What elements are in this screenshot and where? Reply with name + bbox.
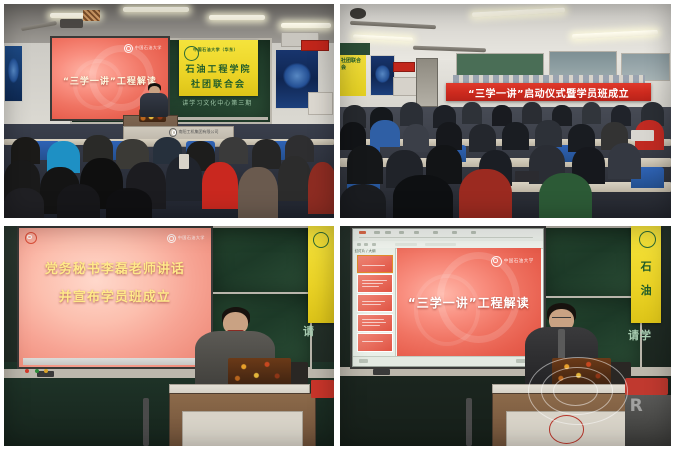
ribbon-icon[interactable]: [414, 231, 420, 234]
ribbon-icon[interactable]: [359, 231, 367, 234]
photo-collage: 中国石油大学 “三学一讲”工程解读 中国石油大学（华东） 石油工程学院 社团联合…: [0, 0, 675, 450]
projection-screen: 中国石油大学 党务秘书李磊老师讲话 并宣布学员班成立: [17, 226, 212, 369]
status-bar: [353, 356, 543, 365]
university-logo: 中国石油大学: [124, 44, 162, 53]
red-object: [625, 378, 668, 396]
microphone: [558, 329, 565, 360]
wall-poster: [4, 45, 23, 103]
projector: [60, 19, 83, 28]
audience-member: [340, 184, 386, 218]
banner-seal-icon: [313, 232, 329, 248]
audience-member: [347, 145, 383, 184]
door: [416, 58, 438, 107]
laptop: [515, 171, 538, 182]
flower-arrangement: [552, 358, 612, 387]
format-icon[interactable]: [364, 243, 368, 247]
audience-member: [582, 102, 602, 123]
audience-member: [469, 124, 495, 152]
ribbon-icon[interactable]: [385, 231, 391, 234]
slide-thumbnail[interactable]: [357, 333, 392, 351]
audience-member: [57, 184, 100, 218]
audience-member: [539, 173, 592, 218]
banner-line-1: 石油工程学院: [179, 62, 258, 75]
slide-thumbnail-pane[interactable]: 幻灯片 / 大纲: [353, 248, 396, 357]
wall-poster: [370, 55, 395, 96]
exit-sign: [301, 40, 329, 51]
font-selector[interactable]: [395, 243, 418, 247]
back-blackboard: [456, 53, 544, 76]
audience-member: [522, 102, 542, 123]
water-bottle: [179, 154, 189, 169]
lectern-panel: [182, 411, 303, 446]
ribbon-icon[interactable]: [433, 231, 439, 234]
red-book: [311, 380, 334, 398]
ribbon-labels: [359, 237, 534, 238]
wall-notice: [308, 92, 333, 115]
audience-member: [393, 175, 453, 218]
audience-member: [370, 120, 400, 148]
cable: [143, 398, 150, 446]
slide-thumbnail[interactable]: [357, 255, 392, 273]
university-logo-text: 中国石油大学: [135, 45, 162, 51]
ribbon-icon[interactable]: [471, 231, 477, 234]
panel-bottom-left: 请 中国石油大学 党务秘书李磊老师讲话 并宣布学员班成立: [4, 226, 334, 446]
blackboard: [209, 226, 312, 296]
party-emblem: [25, 232, 37, 244]
side-banner-text: 社团联合会: [340, 55, 366, 75]
audience-member: [238, 167, 278, 218]
slide-thumbnail[interactable]: [357, 314, 392, 332]
chalk-writing: 请学: [628, 327, 671, 367]
photo-strip: [453, 75, 645, 84]
slide-line-2: 并宣布学员班成立: [19, 286, 210, 305]
party-emblem-icon: [25, 232, 37, 244]
ribbon-icon[interactable]: [374, 231, 380, 234]
side-yellow-banner: 社团联合会: [340, 55, 366, 96]
audience-member: [219, 137, 249, 165]
side-banner-line-2: 油: [631, 282, 661, 298]
ceiling-light: [123, 7, 189, 12]
projection-screen: 幻灯片 / 大纲: [350, 226, 546, 369]
laptop: [631, 130, 654, 141]
blackboard: [539, 226, 642, 300]
style-selector[interactable]: [425, 243, 455, 247]
glasses-icon: [552, 317, 571, 321]
side-cabinet: [625, 395, 671, 446]
audience-member: [4, 188, 44, 218]
status-icon[interactable]: [359, 359, 368, 363]
ribbon-icon[interactable]: [399, 231, 405, 234]
company-logo-icon: [169, 128, 177, 137]
audience-member: [502, 122, 528, 150]
panel-top-left: 中国石油大学 “三学一讲”工程解读 中国石油大学（华东） 石油工程学院 社团联合…: [4, 4, 334, 218]
audience-member: [462, 102, 482, 123]
audience-member: [400, 102, 423, 126]
blackboard-edge: [340, 43, 370, 56]
panel-top-right: 社团联合会 “三学一讲”启动仪式暨学员班成立: [340, 4, 671, 218]
eraser: [373, 369, 390, 375]
slide-title: “三学一讲”工程解读: [397, 294, 541, 311]
audience-member: [608, 143, 641, 179]
banner-header: 中国石油大学（华东）: [179, 47, 272, 53]
taskbar-icon: [35, 369, 39, 373]
audience-member: [106, 188, 152, 218]
speaker: [139, 83, 169, 117]
cable: [466, 398, 473, 446]
slide-thumbnail[interactable]: [357, 274, 392, 292]
yellow-banner: [308, 226, 334, 323]
ribbon-toolbar[interactable]: [353, 229, 543, 242]
banner-line-2: 社团联合会: [179, 77, 258, 90]
flower-arrangement: [228, 358, 291, 387]
audience-member: [535, 120, 561, 148]
yellow-banner: 石 油: [631, 226, 661, 323]
exit-sign: [393, 62, 415, 73]
ribbon-icon[interactable]: [452, 231, 458, 234]
university-logo-text: 中国石油大学: [178, 235, 205, 241]
slide-editor-canvas[interactable]: 中国石油大学 “三学一讲”工程解读: [397, 248, 541, 357]
university-logo: 中国石油大学: [491, 256, 534, 267]
format-icon[interactable]: [372, 243, 376, 247]
university-logo: 中国石油大学: [167, 234, 205, 243]
yellow-banner: 中国石油大学（华东） 石油工程学院 社团联合会: [179, 40, 258, 96]
slide-surface: 中国石油大学 党务秘书李磊老师讲话 并宣布学员班成立: [19, 228, 210, 367]
audience-member: [252, 139, 282, 169]
slide-line-1: 党务秘书李磊老师讲话: [19, 258, 210, 277]
university-seal-icon: [491, 256, 502, 267]
ceiling-vent: [83, 10, 100, 21]
ceiling-light: [281, 23, 331, 28]
university-seal-icon: [167, 234, 176, 243]
audience-member: [202, 162, 238, 209]
slide-thumbnail[interactable]: [357, 294, 392, 312]
taskbar: [23, 358, 207, 365]
red-banner: “三学一讲”启动仪式暨学员班成立: [446, 83, 651, 101]
wall-notice: [393, 77, 418, 96]
university-logo-text: 中国石油大学: [504, 258, 534, 264]
pane-tabs[interactable]: 幻灯片 / 大纲: [355, 249, 376, 254]
speaker-torso: [140, 93, 167, 117]
chalk-writing: 讲学习文化中心第三期: [182, 98, 261, 113]
banner-seal-icon: [639, 231, 656, 248]
ceiling-light: [209, 15, 265, 20]
lectern-emblem-icon: [549, 415, 584, 443]
podium-logo: 南阳工机集团有限公司: [169, 128, 219, 137]
university-seal-icon: [124, 44, 133, 53]
audience-member: [403, 124, 429, 152]
red-banner-text: “三学一讲”启动仪式暨学员班成立: [468, 85, 629, 100]
slide-surface: 中国石油大学 “三学一讲”工程解读: [397, 248, 541, 357]
podium-label: 南阳工机集团有限公司: [179, 129, 219, 135]
side-banner-line-1: 石: [631, 258, 661, 274]
powerpoint-window[interactable]: 幻灯片 / 大纲: [352, 228, 544, 367]
audience-member: [278, 156, 311, 201]
panel-bottom-right: 石 油 请学: [340, 226, 671, 446]
audience-member: [308, 162, 334, 213]
format-icon[interactable]: [357, 243, 361, 247]
audience-member: [459, 169, 512, 218]
